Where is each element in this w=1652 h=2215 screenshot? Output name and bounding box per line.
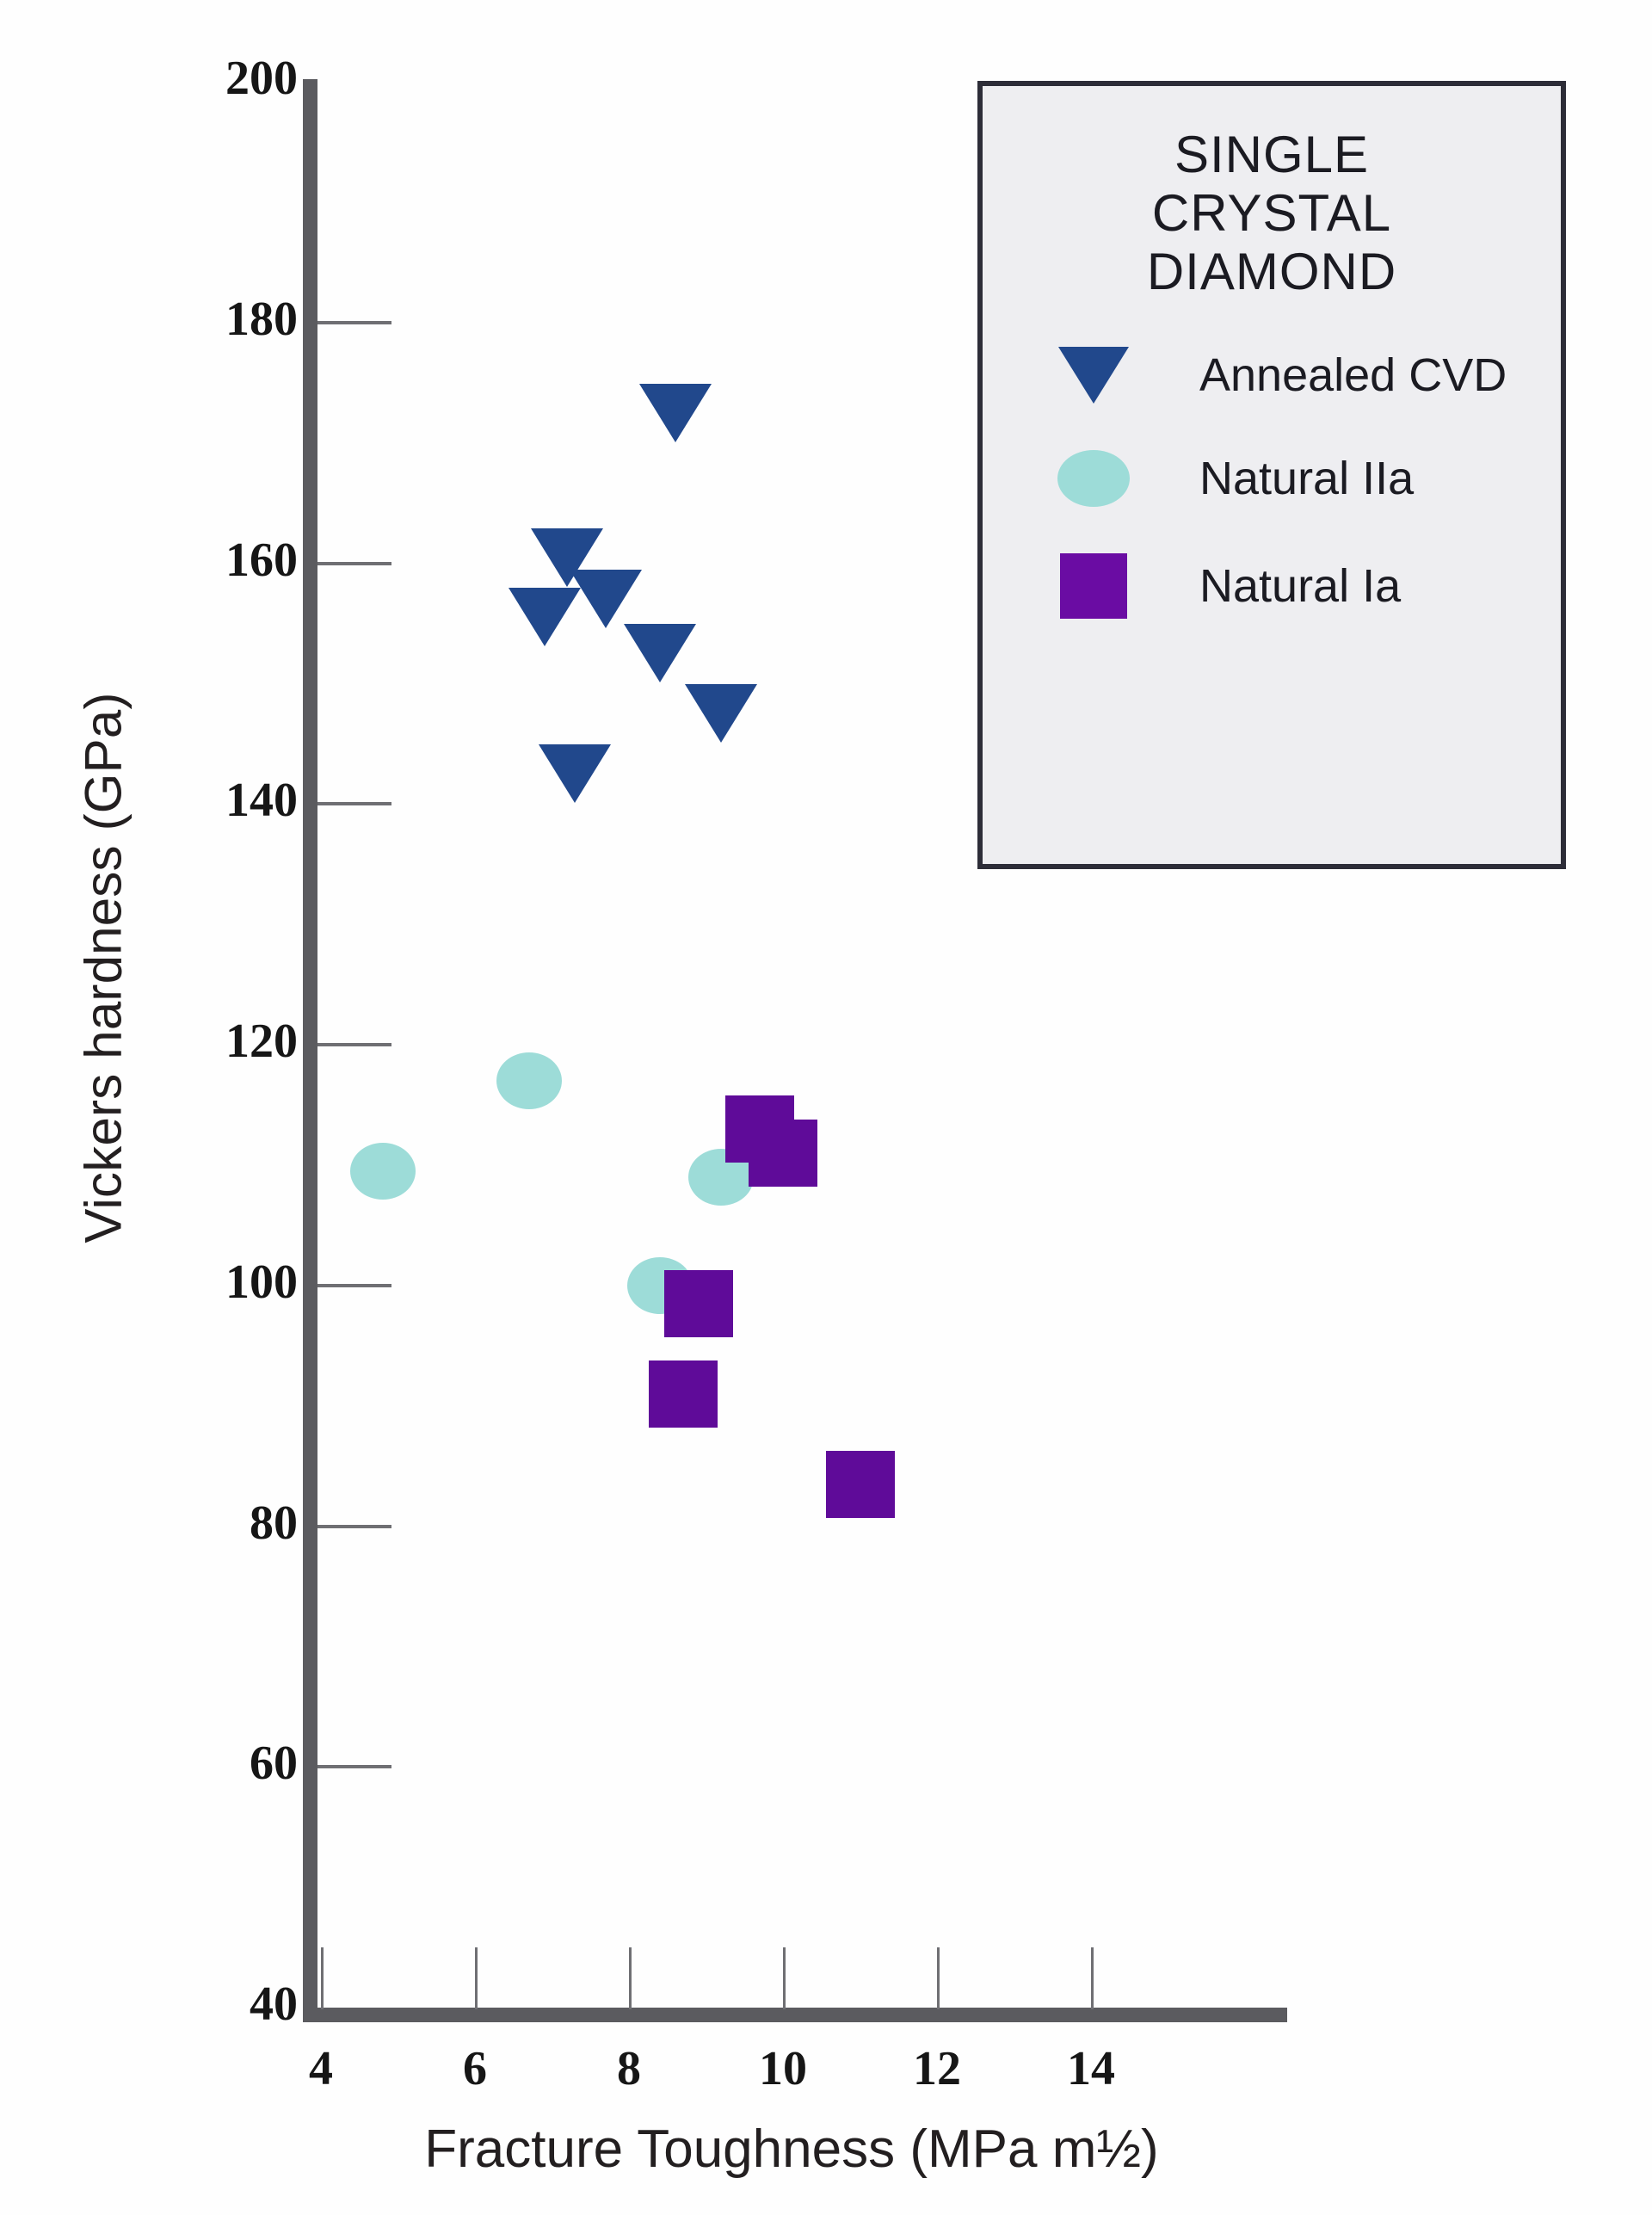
y-tick-mark bbox=[317, 562, 391, 565]
y-tick-mark bbox=[317, 802, 391, 805]
data-point-square bbox=[826, 1451, 895, 1518]
y-tick-label: 140 bbox=[91, 773, 298, 828]
y-tick-label: 200 bbox=[91, 51, 298, 106]
legend-label-natural-ia: Natural Ia bbox=[1199, 559, 1401, 613]
chart-legend: SINGLE CRYSTAL DIAMOND Annealed CVD Natu… bbox=[977, 81, 1566, 869]
x-axis-title: Fracture Toughness (MPa m½) bbox=[284, 2119, 1299, 2180]
x-tick-mark bbox=[321, 1947, 324, 2009]
data-point-triangle-down bbox=[570, 570, 642, 628]
legend-item-annealed-cvd[interactable]: Annealed CVD bbox=[983, 347, 1561, 404]
legend-label-natural-iia: Natural IIa bbox=[1199, 452, 1414, 505]
legend-title-line-3: DIAMOND bbox=[983, 243, 1561, 301]
y-tick-label: 100 bbox=[91, 1255, 298, 1310]
y-tick-label: 120 bbox=[91, 1014, 298, 1069]
square-icon bbox=[1046, 553, 1141, 619]
data-point-triangle-down bbox=[539, 744, 611, 803]
ellipse-icon bbox=[1046, 450, 1141, 507]
y-tick-mark bbox=[317, 1043, 391, 1046]
y-tick-label: 180 bbox=[91, 292, 298, 347]
x-tick-label: 8 bbox=[577, 2041, 681, 2096]
legend-title-line-2: CRYSTAL bbox=[983, 184, 1561, 243]
legend-title: SINGLE CRYSTAL DIAMOND bbox=[983, 126, 1561, 300]
y-tick-label: 60 bbox=[91, 1736, 298, 1791]
legend-item-natural-iia[interactable]: Natural IIa bbox=[983, 450, 1561, 507]
x-tick-label: 14 bbox=[1039, 2041, 1143, 2096]
y-tick-mark bbox=[317, 1284, 391, 1287]
chart-page: Vickers hardness (GPa) Fracture Toughnes… bbox=[0, 0, 1652, 2215]
data-point-triangle-down bbox=[685, 684, 757, 743]
x-tick-mark bbox=[1091, 1947, 1094, 2009]
data-point-square bbox=[649, 1360, 718, 1428]
legend-label-annealed-cvd: Annealed CVD bbox=[1199, 349, 1507, 402]
data-point-ellipse bbox=[496, 1052, 562, 1109]
x-tick-label: 10 bbox=[731, 2041, 835, 2096]
triangle-down-icon bbox=[1046, 347, 1141, 404]
legend-title-line-1: SINGLE bbox=[983, 126, 1561, 184]
y-axis-title: Vickers hardness (GPa) bbox=[74, 641, 133, 1295]
data-point-triangle-down bbox=[639, 384, 712, 442]
y-tick-label: 80 bbox=[91, 1496, 298, 1551]
y-axis-spine bbox=[303, 79, 317, 2022]
x-axis-spine bbox=[303, 2008, 1287, 2022]
data-point-square bbox=[749, 1120, 817, 1187]
x-tick-label: 6 bbox=[423, 2041, 527, 2096]
x-tick-mark bbox=[629, 1947, 632, 2009]
y-tick-label: 160 bbox=[91, 533, 298, 588]
x-tick-mark bbox=[783, 1947, 786, 2009]
y-tick-label: 40 bbox=[91, 1977, 298, 2032]
x-tick-mark bbox=[937, 1947, 940, 2009]
data-point-ellipse bbox=[350, 1143, 416, 1200]
x-tick-mark bbox=[475, 1947, 478, 2009]
x-tick-label: 4 bbox=[269, 2041, 373, 2096]
data-point-triangle-down bbox=[624, 624, 696, 682]
legend-item-natural-ia[interactable]: Natural Ia bbox=[983, 553, 1561, 619]
y-tick-mark bbox=[317, 1525, 391, 1528]
y-tick-mark bbox=[317, 1765, 391, 1768]
data-point-triangle-down bbox=[509, 588, 581, 646]
data-point-square bbox=[664, 1270, 733, 1337]
x-tick-label: 12 bbox=[885, 2041, 989, 2096]
y-tick-mark bbox=[317, 321, 391, 324]
